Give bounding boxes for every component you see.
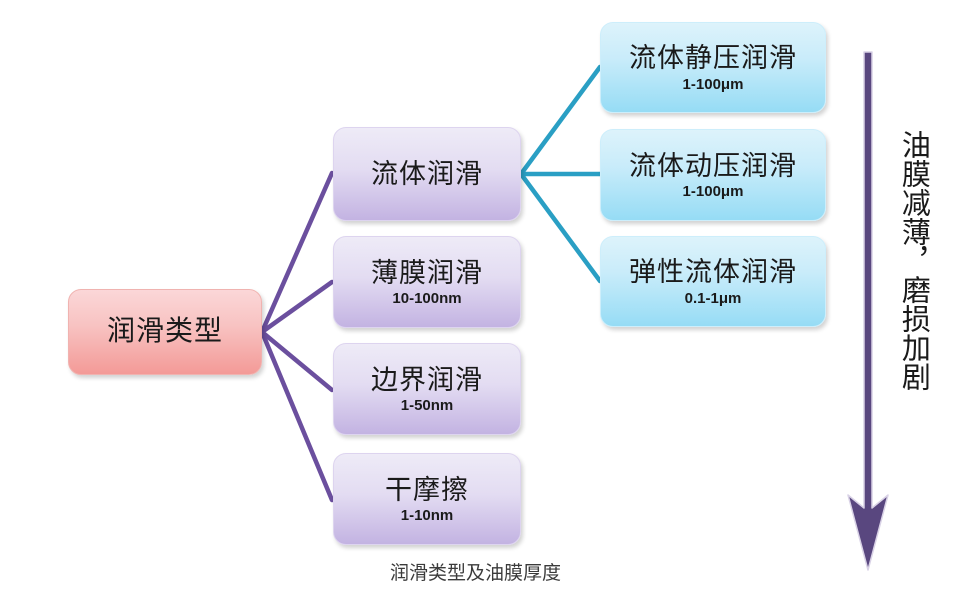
node-elastohydrodynamic-lubrication-label: 弹性流体润滑 <box>629 257 797 287</box>
node-hydrodynamic-lubrication[interactable]: 流体动压润滑 1-100μm <box>600 129 826 221</box>
node-root-label: 润滑类型 <box>107 316 223 347</box>
node-elastohydrodynamic-lubrication[interactable]: 弹性流体润滑 0.1-1μm <box>600 236 826 327</box>
fluid-connectors <box>521 67 600 281</box>
node-boundary-lubrication-label: 边界润滑 <box>371 365 483 395</box>
node-thin-film-lubrication-thickness: 10-100nm <box>392 290 461 308</box>
node-boundary-lubrication[interactable]: 边界润滑 1-50nm <box>333 343 521 435</box>
node-elastohydrodynamic-lubrication-thickness: 0.1-1μm <box>685 290 742 308</box>
node-fluid-lubrication[interactable]: 流体润滑 <box>333 127 521 221</box>
node-thin-film-lubrication[interactable]: 薄膜润滑 10-100nm <box>333 236 521 328</box>
node-hydrodynamic-lubrication-label: 流体动压润滑 <box>629 151 797 181</box>
connector-fluid-to-ehl <box>521 174 600 281</box>
node-fluid-lubrication-label: 流体润滑 <box>371 159 483 189</box>
root-connectors <box>262 173 332 500</box>
node-hydrostatic-lubrication-thickness: 1-100μm <box>683 76 744 94</box>
connector-root-to-dry <box>262 332 332 500</box>
node-dry-friction[interactable]: 干摩擦 1-10nm <box>333 453 521 545</box>
trend-side-text: 油膜减薄，磨损加剧 <box>897 130 928 460</box>
connector-root-to-thinfilm <box>262 282 332 332</box>
downward-trend-arrow <box>848 52 888 570</box>
node-dry-friction-label: 干摩擦 <box>385 475 469 505</box>
diagram-caption: 润滑类型及油膜厚度 <box>390 558 561 585</box>
connector-fluid-to-hydrostatic <box>521 67 600 174</box>
node-root[interactable]: 润滑类型 <box>68 289 262 375</box>
node-dry-friction-thickness: 1-10nm <box>401 507 454 525</box>
connector-root-to-boundary <box>262 332 332 390</box>
diagram-canvas: 润滑类型 流体润滑 薄膜润滑 10-100nm 边界润滑 1-50nm 干摩擦 … <box>0 0 980 594</box>
node-hydrostatic-lubrication-label: 流体静压润滑 <box>629 43 797 73</box>
connector-root-to-fluid <box>262 173 332 332</box>
node-hydrodynamic-lubrication-thickness: 1-100μm <box>683 183 744 201</box>
node-hydrostatic-lubrication[interactable]: 流体静压润滑 1-100μm <box>600 22 826 113</box>
node-boundary-lubrication-thickness: 1-50nm <box>401 397 454 415</box>
node-thin-film-lubrication-label: 薄膜润滑 <box>371 258 483 288</box>
